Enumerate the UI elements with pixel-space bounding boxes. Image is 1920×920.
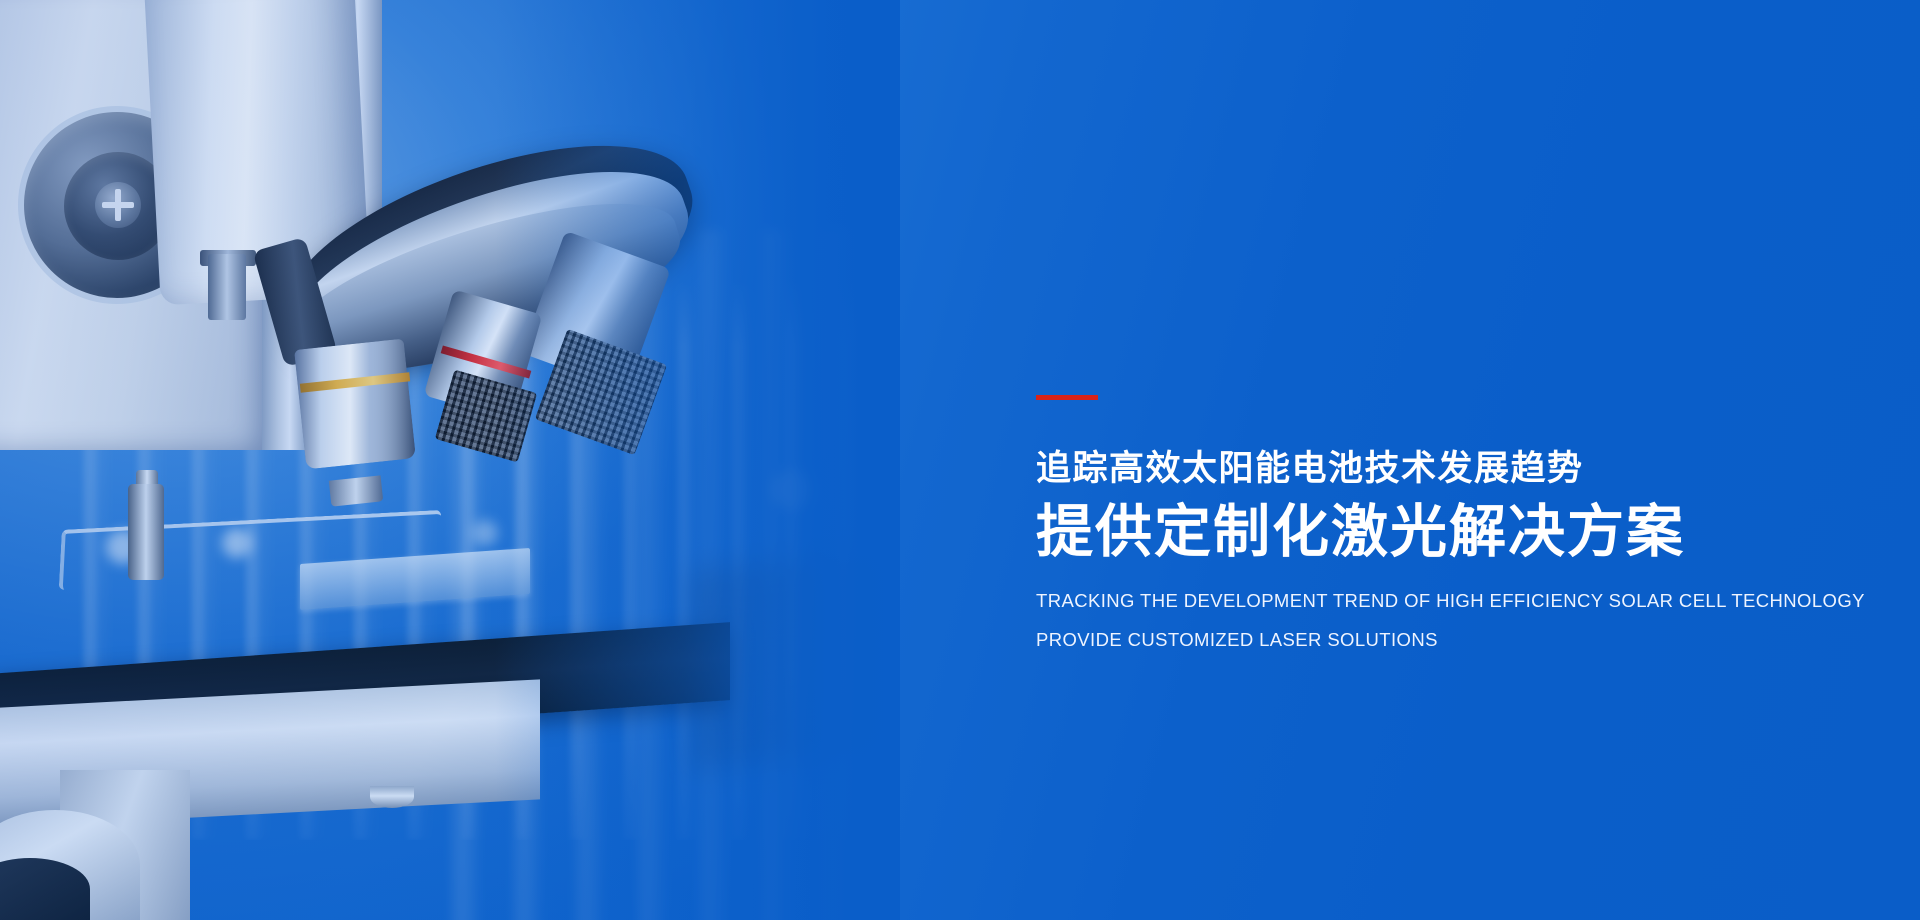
hero-banner: 追踪高效太阳能电池技术发展趋势 提供定制化激光解决方案 TRACKING THE… <box>0 0 1920 920</box>
adjustment-screw <box>208 254 246 320</box>
stage-post <box>128 484 164 580</box>
bokeh-dot <box>772 470 812 510</box>
accent-rule <box>1036 395 1098 400</box>
bokeh-dot <box>472 520 498 546</box>
hero-english-line-2: PROVIDE CUSTOMIZED LASER SOLUTIONS <box>1036 631 1876 650</box>
hero-english-line-1: TRACKING THE DEVELOPMENT TREND OF HIGH E… <box>1036 592 1876 611</box>
knob-screw-icon <box>95 182 141 228</box>
base-bolt <box>370 786 414 808</box>
hero-subheadline: 追踪高效太阳能电池技术发展趋势 <box>1036 450 1876 489</box>
microscope-photo <box>0 0 900 920</box>
objective-lens-1-grip <box>303 405 408 487</box>
hero-headline: 提供定制化激光解决方案 <box>1036 501 1876 565</box>
hero-copy: 追踪高效太阳能电池技术发展趋势 提供定制化激光解决方案 TRACKING THE… <box>1036 395 1876 649</box>
objective-lens-1-tip <box>329 475 383 506</box>
